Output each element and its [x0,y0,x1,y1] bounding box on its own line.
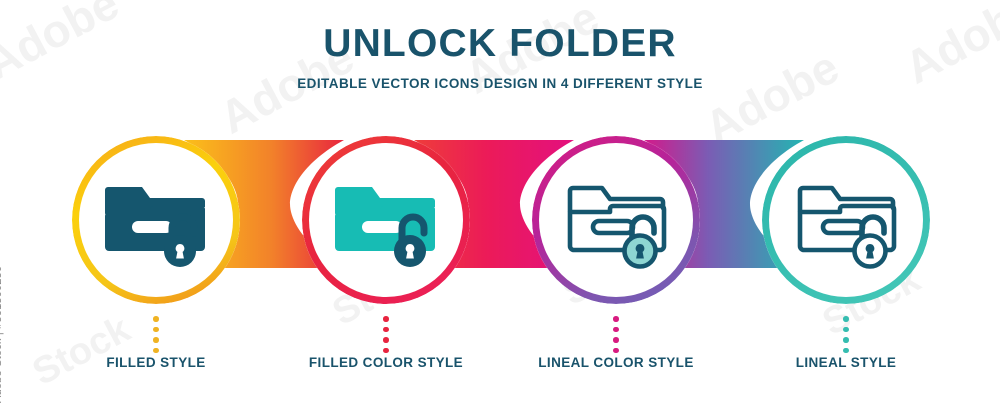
label-lineal-color-style: LINEAL COLOR STYLE [496,355,736,370]
folder-unlock-icon [562,171,670,269]
infographic-canvas: Adobe Stock Adobe Stock Adobe Stock Adob… [0,0,1000,409]
icon-circle-lineal-color-style[interactable] [532,136,700,304]
dots-lineal-color-style [613,316,619,353]
watermark-text: Stock [26,308,138,395]
dots-filled-color-style [383,316,389,353]
header: UNLOCK FOLDER EDITABLE VECTOR ICONS DESI… [0,24,1000,91]
icon-circle-filled-style[interactable] [72,136,240,304]
dots-lineal-style [843,316,849,353]
page-subtitle: EDITABLE VECTOR ICONS DESIGN IN 4 DIFFER… [0,76,1000,91]
folder-unlock-icon [102,171,210,269]
folder-unlock-icon [332,171,440,269]
dots-filled-style [153,316,159,353]
label-filled-style: FILLED STYLE [36,355,276,370]
label-filled-color-style: FILLED COLOR STYLE [266,355,506,370]
page-title: UNLOCK FOLDER [0,24,1000,65]
icon-circle-filled-color-style[interactable] [302,136,470,304]
folder-unlock-icon [792,171,900,269]
stock-credit-watermark: Adobe Stock | #561500250 [0,266,4,403]
label-lineal-style: LINEAL STYLE [726,355,966,370]
icon-circle-lineal-style[interactable] [762,136,930,304]
